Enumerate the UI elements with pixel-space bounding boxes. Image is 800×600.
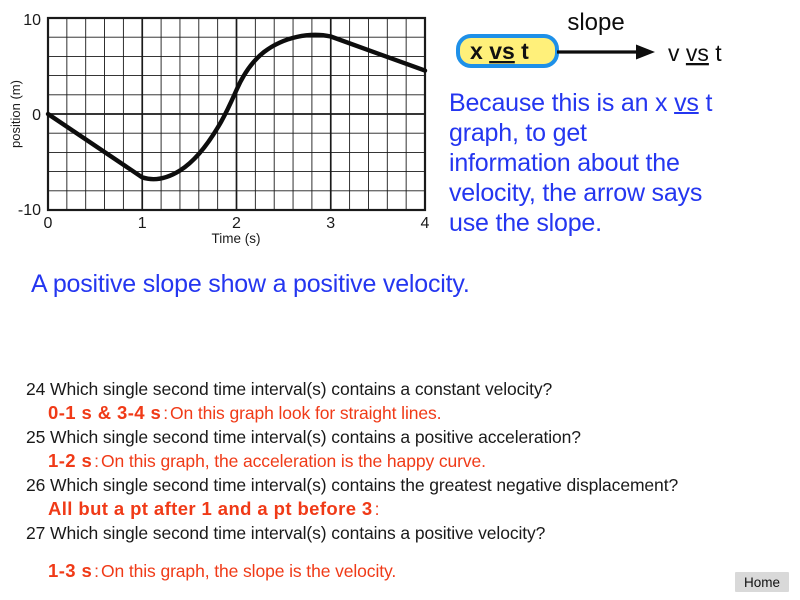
explanation-line-1a: Because this is an x	[449, 89, 674, 117]
x-tick-2: 2	[232, 215, 241, 232]
slope-arrow-head	[636, 45, 655, 60]
question-24: 24 Which single second time interval(s) …	[26, 378, 786, 400]
answer-25: 1-2 s:On this graph, the acceleration is…	[26, 448, 786, 474]
explanation-line-1: Because this is an x vs t	[449, 88, 789, 118]
x-tick-1: 1	[138, 215, 147, 232]
answer-24-key: 0-1 s & 3-4 s	[48, 402, 161, 423]
answer-26-sep: :	[373, 499, 382, 519]
answer-24-text: On this graph look for straight lines.	[170, 403, 441, 423]
slide-canvas: 10 0 -10 position (m) 0 1 2 3 4 Time (s)…	[0, 0, 800, 600]
answer-27-sep: :	[92, 561, 101, 581]
explanation-paragraph: Because this is an x vs t graph, to get …	[449, 88, 789, 238]
v-vs-t-label: v vs t	[668, 40, 722, 66]
answer-24-sep: :	[161, 403, 170, 423]
y-tick-top: 10	[23, 12, 41, 29]
home-button[interactable]: Home	[735, 572, 789, 592]
answer-25-key: 1-2 s	[48, 450, 92, 471]
explanation-line-1b: t	[699, 89, 713, 117]
x-vs-t-label: x vs t	[470, 38, 529, 64]
answer-27-text: On this graph, the slope is the velocity…	[101, 561, 396, 581]
x-tick-0: 0	[44, 215, 53, 232]
explanation-line-5: use the slope.	[449, 208, 789, 238]
x-axis-label: Time (s)	[212, 231, 261, 246]
slope-diagram-svg: x vs t slope v vs t	[440, 8, 800, 88]
answer-24: 0-1 s & 3-4 s:On this graph look for str…	[26, 400, 786, 426]
x-tick-4: 4	[421, 215, 430, 232]
x-vs-t-prefix: x	[470, 38, 489, 64]
y-tick-bottom: -10	[18, 202, 41, 219]
position-time-graph: 10 0 -10 position (m) 0 1 2 3 4 Time (s)	[0, 0, 440, 248]
answer-27-key: 1-3 s	[48, 560, 92, 581]
question-26: 26 Which single second time interval(s) …	[26, 474, 786, 496]
x-tick-3: 3	[326, 215, 335, 232]
answer-25-sep: :	[92, 451, 101, 471]
slope-relationship-diagram: x vs t slope v vs t	[440, 8, 800, 88]
answer-26: All but a pt after 1 and a pt before 3:	[26, 496, 786, 522]
explanation-line-4: velocity, the arrow says	[449, 178, 789, 208]
y-axis-label: position (m)	[8, 80, 23, 148]
question-answer-list: 24 Which single second time interval(s) …	[26, 378, 786, 584]
graph-svg: 10 0 -10 position (m) 0 1 2 3 4 Time (s)	[0, 0, 440, 248]
question-25: 25 Which single second time interval(s) …	[26, 426, 786, 448]
v-vs-t-prefix: v	[668, 40, 686, 66]
x-vs-t-vs: vs	[489, 38, 515, 64]
v-vs-t-suffix: t	[709, 40, 722, 66]
answer-25-text: On this graph, the acceleration is the h…	[101, 451, 486, 471]
explanation-line-3: information about the	[449, 148, 789, 178]
y-tick-mid: 0	[32, 107, 41, 124]
answer-27: 1-3 s:On this graph, the slope is the ve…	[26, 544, 786, 584]
explanation-line-1-vs: vs	[674, 89, 699, 117]
slope-arrow-label: slope	[567, 9, 624, 36]
question-27: 27 Which single second time interval(s) …	[26, 522, 786, 544]
positive-slope-statement: A positive slope show a positive velocit…	[31, 270, 470, 299]
v-vs-t-vs: vs	[686, 40, 709, 66]
answer-26-key: All but a pt after 1 and a pt before 3	[48, 498, 373, 519]
x-vs-t-suffix: t	[515, 38, 529, 64]
explanation-line-2: graph, to get	[449, 118, 789, 148]
